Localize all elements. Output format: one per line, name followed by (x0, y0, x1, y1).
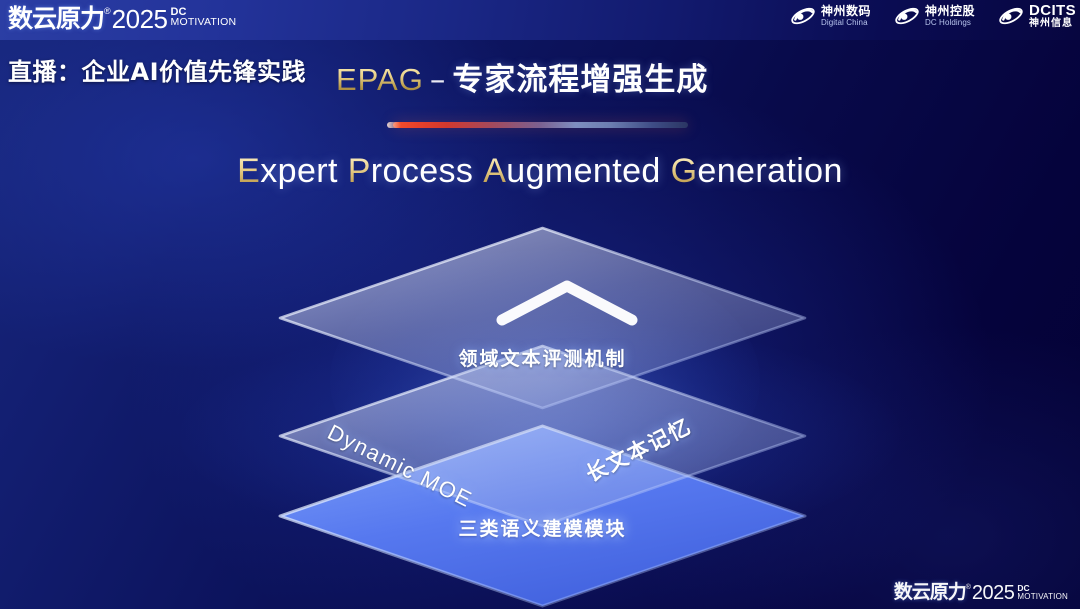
partner-text: DCITS 神州信息 (1029, 3, 1076, 29)
brand-logo: 数云原力 ® 2025 DC MOTIVATION (8, 6, 236, 32)
partner-logo-digital-china: 神州数码 Digital China (789, 2, 871, 30)
live-stream-title: 直播：企业AI价值先锋实践 (8, 52, 306, 87)
footer-motivation-block: DC MOTIVATION (1017, 583, 1068, 601)
subtitle-space-2 (473, 152, 483, 190)
partner-name-en: Digital China (821, 18, 871, 28)
partner-name-en: DCITS (1029, 3, 1076, 19)
partner-name-en: DC Holdings (925, 18, 975, 28)
title-divider (393, 122, 688, 128)
title-dash: – (424, 62, 453, 98)
brand-registered-mark: ® (104, 7, 111, 16)
subtitle-space-1 (338, 152, 348, 190)
chevron-up-icon (492, 274, 642, 330)
page-title: EPAG–专家流程增强生成 (336, 54, 708, 99)
brand-motivation-text: MOTIVATION (171, 17, 237, 28)
footer-brand-year: 2025 (972, 583, 1015, 603)
subtitle-space-3 (661, 152, 671, 190)
partner-name-cn: 神州控股 (925, 5, 975, 18)
footer-motivation-text: MOTIVATION (1017, 592, 1068, 601)
subtitle-cap-p: P (348, 152, 371, 190)
diagram-layer-top[interactable] (265, 222, 820, 442)
subtitle-cap-g: G (671, 152, 698, 190)
swirl-icon (997, 2, 1025, 30)
title-chinese: 专家流程增强生成 (452, 62, 708, 98)
subtitle-rest-process: rocess (371, 152, 474, 190)
subtitle: Expert Process Augmented Generation (0, 152, 1080, 191)
layer-top-shape (265, 222, 820, 442)
subtitle-rest-generation: eneration (697, 152, 842, 190)
partner-text: 神州控股 DC Holdings (925, 5, 975, 28)
footer-brand-name-cn: 数云原力 (894, 583, 966, 602)
footer-registered-mark: ® (966, 584, 971, 591)
title-acronym: EPAG (336, 62, 424, 97)
brand-name-cn: 数云原力 (8, 6, 104, 31)
slide-root: 数云原力 ® 2025 DC MOTIVATION 神州数码 Digital C… (0, 0, 1080, 609)
layer-stack-diagram: 领域文本评测机制 Dynamic MOE 长文本记忆 三类语义建模模块 (265, 222, 820, 582)
brand-year: 2025 (112, 6, 168, 32)
partner-logo-group: 神州数码 Digital China 神州控股 DC Holdings (789, 2, 1076, 30)
subtitle-cap-a: A (483, 152, 506, 190)
partner-text: 神州数码 Digital China (821, 5, 871, 28)
subtitle-rest-expert: xpert (260, 152, 338, 190)
swirl-icon (789, 2, 817, 30)
subtitle-cap-e: E (237, 152, 260, 190)
footer-watermark-logo: 数云原力 ® 2025 DC MOTIVATION (894, 583, 1068, 603)
partner-logo-dc-holdings: 神州控股 DC Holdings (893, 2, 975, 30)
brand-motivation-block: DC MOTIVATION (171, 6, 237, 28)
partner-name-cn: 神州信息 (1029, 19, 1076, 29)
footer-dc-text: DC (1017, 584, 1068, 592)
partner-name-cn: 神州数码 (821, 5, 871, 18)
partner-logo-dcits: DCITS 神州信息 (997, 2, 1076, 30)
subtitle-rest-augmented: ugmented (506, 152, 660, 190)
swirl-icon (893, 2, 921, 30)
